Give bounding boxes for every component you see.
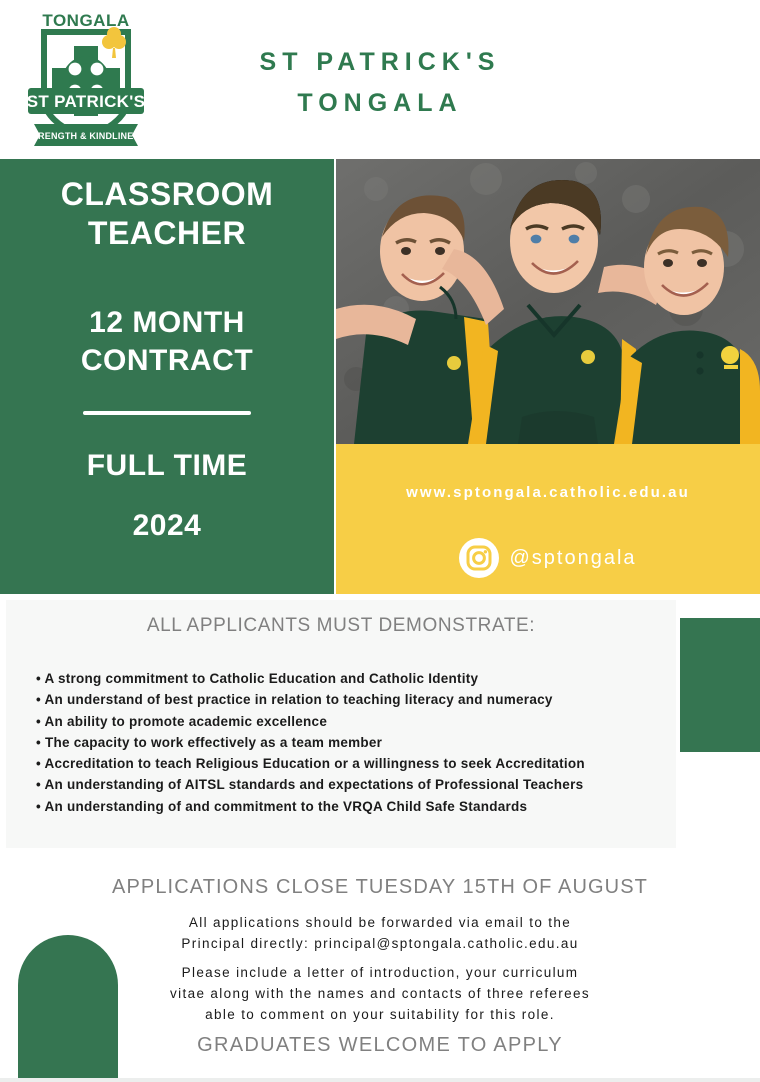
apply-line1: All applications should be forwarded via…	[130, 912, 630, 933]
role-title: CLASSROOM TEACHER	[0, 175, 334, 253]
role-line1: CLASSROOM	[0, 175, 334, 214]
include-line3: able to comment on your suitability for …	[118, 1004, 642, 1025]
graduates-welcome: GRADUATES WELCOME TO APPLY	[0, 1034, 760, 1057]
list-item: • An understanding of AITSL standards an…	[36, 774, 656, 795]
include-line1: Please include a letter of introduction,…	[118, 962, 642, 983]
svg-text:ST PATRICK'S: ST PATRICK'S	[27, 92, 145, 111]
list-item: • An understanding of and commitment to …	[36, 796, 656, 817]
list-item: • An ability to promote academic excelle…	[36, 711, 656, 732]
decorative-block-right	[680, 618, 760, 752]
job-advertisement-poster: TONGALA ST PATRICK'S STRENGTH & KINDLINE…	[0, 0, 760, 1082]
svg-text:STRENGTH & KINDLINESS: STRENGTH & KINDLINESS	[26, 131, 146, 141]
submission-requirements: Please include a letter of introduction,…	[118, 962, 642, 1025]
list-item: • An understand of best practice in rela…	[36, 689, 656, 710]
students-photo	[336, 159, 760, 444]
svg-text:TONGALA: TONGALA	[42, 11, 129, 30]
list-item: • A strong commitment to Catholic Educat…	[36, 668, 656, 689]
role-line2: TEACHER	[0, 214, 334, 253]
instagram-handle[interactable]: @sptongala	[509, 547, 636, 570]
requirements-list: • A strong commitment to Catholic Educat…	[36, 668, 656, 817]
instagram-row[interactable]: @sptongala	[336, 538, 760, 578]
school-title-line2: TONGALA	[215, 83, 545, 124]
include-line2: vitae along with the names and contacts …	[118, 983, 642, 1004]
employment-year: 2024	[0, 509, 334, 543]
position-details-panel: CLASSROOM TEACHER 12 MONTH CONTRACT FULL…	[0, 159, 334, 594]
employment-hours: FULL TIME	[0, 449, 334, 483]
school-logo: TONGALA ST PATRICK'S STRENGTH & KINDLINE…	[20, 6, 152, 150]
contract-term: 12 MONTH CONTRACT	[0, 304, 334, 379]
term-line2: CONTRACT	[0, 342, 334, 380]
instagram-icon[interactable]	[459, 538, 499, 578]
website-url[interactable]: www.sptongala.catholic.edu.au	[336, 484, 760, 501]
bottom-strip	[0, 1078, 760, 1082]
contact-band: www.sptongala.catholic.edu.au @sptongala	[336, 444, 760, 594]
list-item: • Accreditation to teach Religious Educa…	[36, 753, 656, 774]
application-instructions: All applications should be forwarded via…	[130, 912, 630, 954]
list-item: • The capacity to work effectively as a …	[36, 732, 656, 753]
school-title-line1: ST PATRICK'S	[215, 42, 545, 83]
apply-email-line[interactable]: Principal directly: principal@sptongala.…	[130, 933, 630, 954]
term-line1: 12 MONTH	[0, 304, 334, 342]
poster-header: TONGALA ST PATRICK'S STRENGTH & KINDLINE…	[0, 0, 760, 158]
divider-line	[83, 411, 251, 415]
requirements-panel: ALL APPLICANTS MUST DEMONSTRATE: • A str…	[6, 600, 676, 848]
requirements-heading: ALL APPLICANTS MUST DEMONSTRATE:	[6, 615, 676, 637]
school-title: ST PATRICK'S TONGALA	[215, 42, 545, 123]
closing-date: APPLICATIONS CLOSE TUESDAY 15TH OF AUGUS…	[0, 876, 760, 899]
